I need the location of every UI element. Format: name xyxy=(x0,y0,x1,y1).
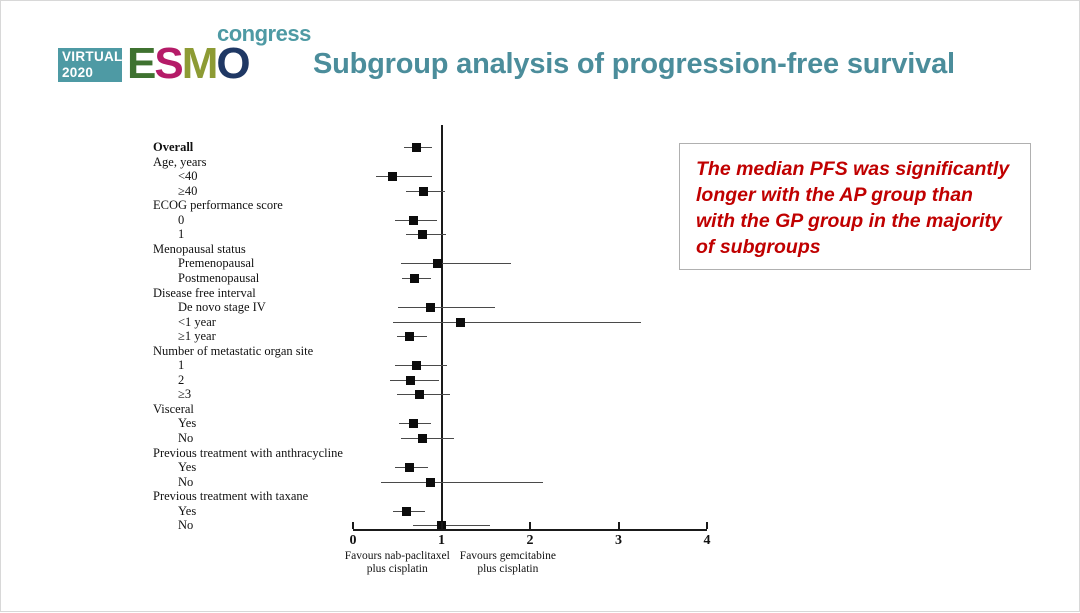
subgroup-row-label: Postmenopausal xyxy=(178,272,259,285)
x-axis-tick-label: 0 xyxy=(341,533,365,549)
confidence-interval-line xyxy=(401,263,511,264)
confidence-interval-line xyxy=(393,322,641,323)
x-axis-tick xyxy=(441,522,443,529)
subgroup-category-label: Previous treatment with taxane xyxy=(153,490,308,503)
point-estimate-marker xyxy=(419,187,428,196)
confidence-interval-line xyxy=(376,176,432,177)
subgroup-row-label: Overall xyxy=(153,141,193,154)
point-estimate-marker xyxy=(412,361,421,370)
subgroup-row-label: 1 xyxy=(178,228,184,241)
subgroup-row-label: Premenopausal xyxy=(178,257,254,270)
subgroup-row-label: No xyxy=(178,476,193,489)
point-estimate-marker xyxy=(418,230,427,239)
subgroup-category-label: Previous treatment with anthracycline xyxy=(153,447,343,460)
x-axis-tick-label: 4 xyxy=(695,533,719,549)
point-estimate-marker xyxy=(409,419,418,428)
subgroup-row-label: 1 xyxy=(178,359,184,372)
point-estimate-marker xyxy=(418,434,427,443)
subgroup-category-label: Number of metastatic organ site xyxy=(153,345,313,358)
subgroup-row-label: 0 xyxy=(178,214,184,227)
point-estimate-marker xyxy=(410,274,419,283)
subgroup-row-label: ≥1 year xyxy=(178,330,216,343)
x-axis-line xyxy=(353,529,707,531)
confidence-interval-line xyxy=(381,482,543,483)
point-estimate-marker xyxy=(406,376,415,385)
point-estimate-marker xyxy=(426,478,435,487)
x-axis-tick xyxy=(529,522,531,529)
point-estimate-marker xyxy=(426,303,435,312)
slide-canvas: VIRTUAL 2020 E S M O congress Subgroup a… xyxy=(0,0,1080,612)
subgroup-row-label: Yes xyxy=(178,505,196,518)
x-axis-tick-label: 3 xyxy=(607,533,631,549)
subgroup-category-label: Menopausal status xyxy=(153,243,246,256)
point-estimate-marker xyxy=(405,463,414,472)
point-estimate-marker xyxy=(433,259,442,268)
favours-right-caption-line1: Favours gemcitabine xyxy=(413,550,603,563)
x-axis-tick xyxy=(706,522,708,529)
point-estimate-marker xyxy=(456,318,465,327)
x-axis-tick-label: 1 xyxy=(430,533,454,549)
x-axis-tick-label: 2 xyxy=(518,533,542,549)
subgroup-category-label: Age, years xyxy=(153,156,206,169)
subgroup-row-label: <40 xyxy=(178,170,198,183)
subgroup-category-label: ECOG performance score xyxy=(153,199,283,212)
x-axis-tick xyxy=(618,522,620,529)
forest-plot: OverallAge, years<40≥40ECOG performance … xyxy=(1,1,1080,613)
confidence-interval-line xyxy=(401,438,454,439)
point-estimate-marker xyxy=(409,216,418,225)
subgroup-row-label: <1 year xyxy=(178,316,216,329)
x-axis-tick xyxy=(352,522,354,529)
favours-right-caption: Favours gemcitabineplus cisplatin xyxy=(413,550,603,576)
subgroup-row-label: No xyxy=(178,519,193,532)
subgroup-row-label: Yes xyxy=(178,417,196,430)
subgroup-category-label: Visceral xyxy=(153,403,194,416)
favours-right-caption-line2: plus cisplatin xyxy=(413,563,603,576)
subgroup-row-label: Yes xyxy=(178,461,196,474)
subgroup-row-label: 2 xyxy=(178,374,184,387)
subgroup-row-label: ≥40 xyxy=(178,185,197,198)
subgroup-row-label: ≥3 xyxy=(178,388,191,401)
subgroup-row-label: No xyxy=(178,432,193,445)
point-estimate-marker xyxy=(405,332,414,341)
subgroup-row-label: De novo stage IV xyxy=(178,301,266,314)
point-estimate-marker xyxy=(388,172,397,181)
confidence-interval-line xyxy=(398,307,494,308)
confidence-interval-line xyxy=(413,525,490,526)
subgroup-category-label: Disease free interval xyxy=(153,287,256,300)
point-estimate-marker xyxy=(412,143,421,152)
point-estimate-marker xyxy=(415,390,424,399)
point-estimate-marker xyxy=(402,507,411,516)
null-reference-line xyxy=(441,125,443,529)
